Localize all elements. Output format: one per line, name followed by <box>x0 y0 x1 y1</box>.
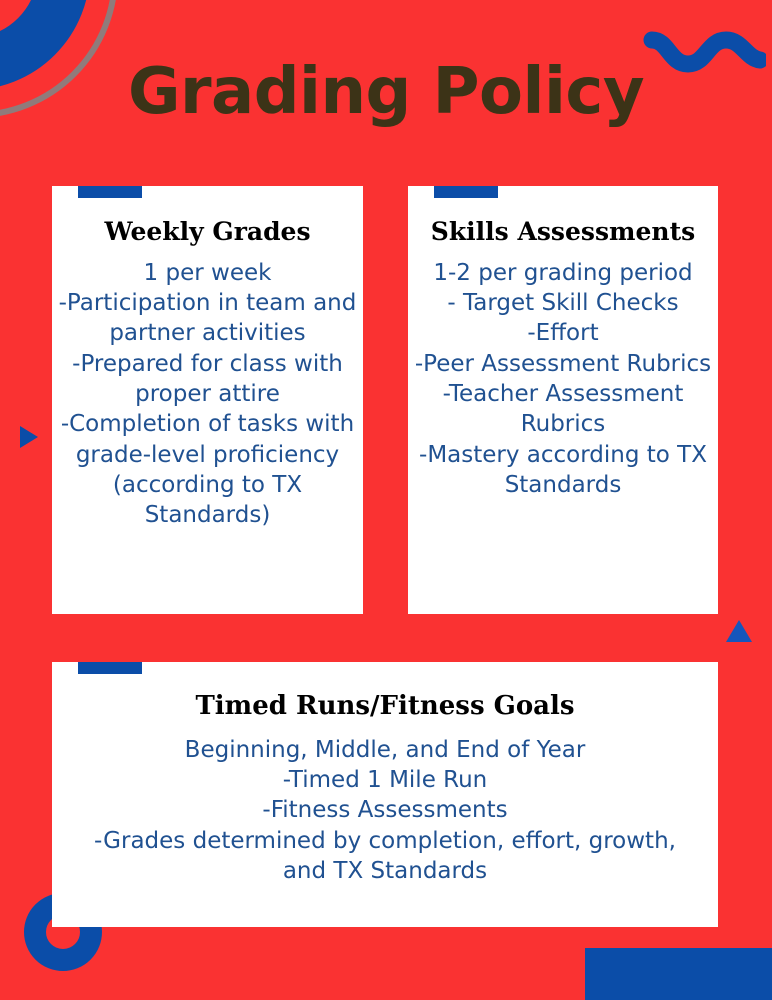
poster-canvas: Grading Policy Weekly Grades 1 per week … <box>0 0 772 1000</box>
card-tab-accent <box>78 186 142 198</box>
card-tab-accent <box>78 662 142 674</box>
triangle-right-icon <box>20 426 38 448</box>
card-skills-assessments: Skills Assessments 1-2 per grading perio… <box>408 186 718 614</box>
triangle-up-icon <box>726 620 752 642</box>
card-weekly-grades: Weekly Grades 1 per week -Participation … <box>52 186 363 614</box>
card-heading: Timed Runs/Fitness Goals <box>52 692 718 721</box>
corner-rectangle-icon <box>585 948 772 1000</box>
card-heading: Skills Assessments <box>408 218 718 246</box>
card-heading: Weekly Grades <box>52 218 363 246</box>
card-body-text: 1-2 per grading period - Target Skill Ch… <box>408 258 718 501</box>
page-title: Grading Policy <box>0 60 772 124</box>
card-timed-runs-fitness-goals: Timed Runs/Fitness Goals Beginning, Midd… <box>52 662 718 927</box>
card-body-text: 1 per week -Participation in team and pa… <box>52 258 363 531</box>
card-body-text: Beginning, Middle, and End of Year -Time… <box>52 735 718 887</box>
card-tab-accent <box>434 186 498 198</box>
